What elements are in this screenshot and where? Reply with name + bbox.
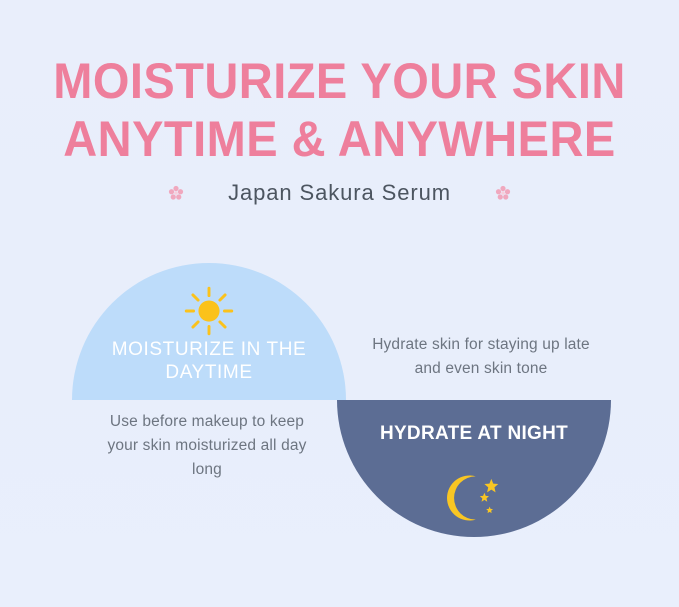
subtitle: Japan Sakura Serum	[228, 180, 451, 206]
night-label-line-2: AT NIGHT	[477, 423, 568, 444]
night-label-line-1: HYDRATE	[380, 423, 473, 444]
subtitle-row: Japan Sakura Serum	[0, 180, 679, 206]
moon-stars-icon	[446, 472, 502, 524]
daytime-semicircle: MOISTURIZE IN THE DAYTIME	[72, 263, 346, 400]
headline-line-1: MOISTURIZE YOUR SKIN	[20, 52, 658, 110]
sakura-flower-icon-right	[495, 185, 511, 201]
daytime-description-line-2: your skin moisturized all day	[62, 434, 352, 458]
daytime-label: MOISTURIZE IN THE DAYTIME	[72, 338, 346, 384]
daytime-description-line-3: long	[62, 458, 352, 482]
day-night-diagram: MOISTURIZE IN THE DAYTIME HYDRATE AT NIG…	[0, 255, 679, 555]
daytime-description-line-1: Use before makeup to keep	[62, 410, 352, 434]
night-description-line-2: and even skin tone	[345, 357, 617, 381]
daytime-description: Use before makeup to keep your skin mois…	[62, 410, 352, 482]
sun-icon	[183, 285, 235, 337]
headline-line-2: ANYTIME & ANYWHERE	[20, 110, 658, 168]
night-description-line-1: Hydrate skin for staying up late	[345, 333, 617, 357]
poster-canvas: MOISTURIZE YOUR SKIN ANYTIME & ANYWHERE …	[0, 0, 679, 607]
night-description: Hydrate skin for staying up late and eve…	[345, 333, 617, 381]
sakura-flower-icon-left	[168, 185, 184, 201]
daytime-label-line-1: MOISTURIZE	[112, 339, 235, 360]
night-label: HYDRATE AT NIGHT	[337, 422, 611, 445]
page-title: MOISTURIZE YOUR SKIN ANYTIME & ANYWHERE	[20, 52, 658, 168]
night-semicircle: HYDRATE AT NIGHT	[337, 400, 611, 537]
